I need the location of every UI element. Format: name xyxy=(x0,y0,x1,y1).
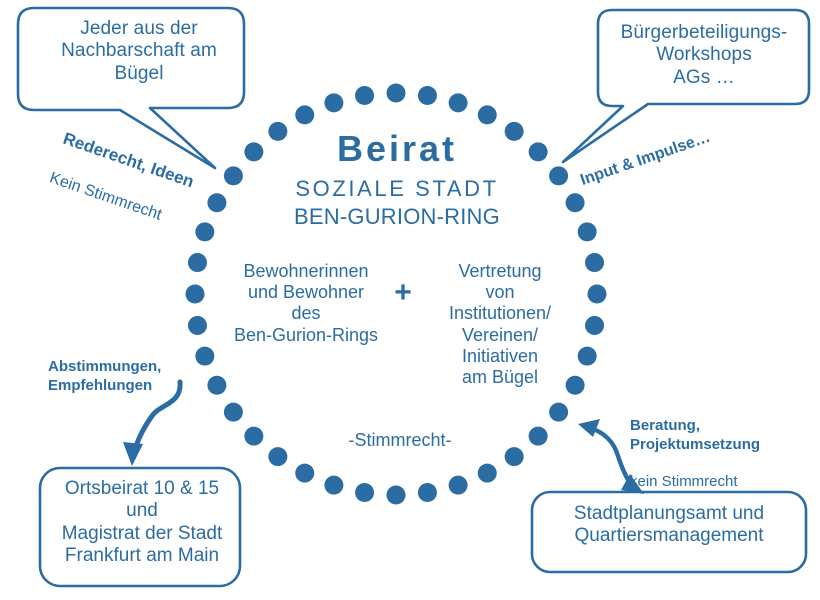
ring-dot xyxy=(295,105,314,124)
ring-dot xyxy=(355,86,374,105)
bubble-text-top-left: Jeder aus der Nachbarschaft am Bügel xyxy=(28,18,250,85)
annotation-right-bold: Beratung, Projektumsetzung xyxy=(630,417,820,455)
ring-dot xyxy=(224,403,243,422)
ring-dot xyxy=(387,486,406,505)
diagram-canvas: Jeder aus der Nachbarschaft am Bügel Bür… xyxy=(0,0,820,600)
arrow-left-head xyxy=(123,442,143,466)
ring-dot xyxy=(578,222,597,241)
ring-dot xyxy=(578,347,597,366)
arrow-right-head-up xyxy=(578,419,600,437)
ring-dot xyxy=(585,316,604,335)
ring-dot xyxy=(529,427,548,446)
ring-dot xyxy=(418,483,437,502)
ring-dot xyxy=(268,447,287,466)
page-subtitle-location: BEN-GURION-RING xyxy=(255,204,539,230)
ring-dot xyxy=(355,483,374,502)
bubble-text-top-right: Bürgerbeteiligungs- Workshops AGs … xyxy=(600,22,808,89)
ring-dot xyxy=(478,464,497,483)
ring-dot xyxy=(478,105,497,124)
ring-dot xyxy=(186,285,205,304)
plus-icon: + xyxy=(386,275,420,310)
ring-dot xyxy=(324,93,343,112)
ring-dot xyxy=(295,464,314,483)
member-group-residents: Bewohnerinnen und Bewohner des Ben-Gurio… xyxy=(218,261,394,346)
ring-dot xyxy=(387,84,406,103)
ring-dot xyxy=(566,193,585,212)
ring-dot xyxy=(549,403,568,422)
voting-rights-note: -Stimmrecht- xyxy=(310,430,490,451)
ring-dot xyxy=(505,447,524,466)
page-subtitle-program: SOZIALE STADT xyxy=(255,176,539,202)
member-group-institutions: Vertretung von Institutionen/ Vereinen/ … xyxy=(424,261,576,388)
ring-dot xyxy=(188,316,207,335)
ring-dot xyxy=(588,285,607,304)
annotation-right: Beratung, Projektumsetzung kein Stimmrec… xyxy=(630,398,820,511)
ring-dot xyxy=(549,166,568,185)
arrow-right-shaft xyxy=(590,428,632,486)
box-text-bottom-left: Ortsbeirat 10 & 15 und Magistrat der Sta… xyxy=(44,478,240,568)
ring-dot xyxy=(449,93,468,112)
ring-dot xyxy=(324,476,343,495)
page-title: Beirat xyxy=(255,128,539,170)
annotation-left: Abstimmungen, Empfehlungen xyxy=(48,358,230,396)
annotation-right-regular: kein Stimmrecht xyxy=(630,473,820,492)
ring-dot xyxy=(449,476,468,495)
ring-dot xyxy=(585,253,604,272)
ring-dot xyxy=(418,86,437,105)
ring-dot xyxy=(244,427,263,446)
